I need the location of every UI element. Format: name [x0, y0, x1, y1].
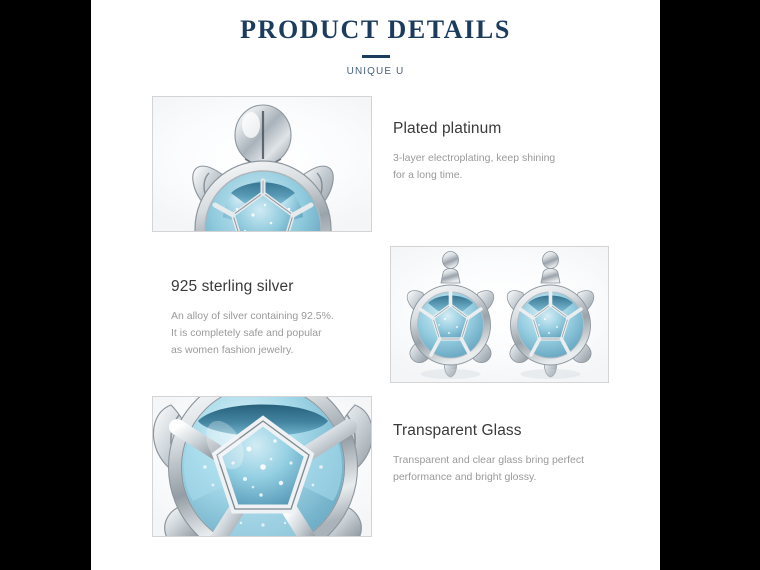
feature-description: Transparent and clear glass bring perfec…: [393, 452, 638, 486]
feature-description-line: It is completely safe and popular: [171, 325, 406, 342]
page-title: PRODUCT DETAILS: [91, 0, 660, 43]
letterbox-right: [660, 0, 760, 570]
turtle-head-closeup-illustration: [153, 97, 372, 232]
screenshot-canvas: PRODUCT DETAILS UNIQUE U: [0, 0, 760, 570]
turtle-shell-macro-illustration: [153, 397, 372, 537]
page-header: PRODUCT DETAILS UNIQUE U: [91, 0, 660, 77]
feature-text-plated-platinum: Plated platinum 3-layer electroplating, …: [393, 120, 633, 184]
turtle-earrings-pair-photo: [390, 246, 609, 383]
feature-description: An alloy of silver containing 92.5%. It …: [171, 308, 406, 359]
feature-title: 925 sterling silver: [171, 278, 406, 297]
turtle-shell-macro-photo: [152, 396, 372, 537]
feature-description-line: as women fashion jewelry.: [171, 342, 406, 359]
feature-description-line: An alloy of silver containing 92.5%.: [171, 308, 406, 325]
letterbox-left: [0, 0, 91, 570]
feature-text-sterling-silver: 925 sterling silver An alloy of silver c…: [171, 278, 406, 359]
product-details-page: PRODUCT DETAILS UNIQUE U: [91, 0, 660, 570]
turtle-earrings-pair-illustration: [391, 247, 609, 383]
turtle-head-closeup-photo: [152, 96, 372, 232]
feature-description: 3-layer electroplating, keep shining for…: [393, 150, 633, 184]
feature-description-line: performance and bright glossy.: [393, 469, 638, 486]
page-subtitle: UNIQUE U: [91, 66, 660, 77]
feature-description-line: Transparent and clear glass bring perfec…: [393, 452, 638, 469]
feature-title: Plated platinum: [393, 120, 633, 139]
feature-description-line: 3-layer electroplating, keep shining: [393, 150, 633, 167]
feature-description-line: for a long time.: [393, 167, 633, 184]
title-divider: [362, 55, 390, 58]
feature-text-transparent-glass: Transparent Glass Transparent and clear …: [393, 422, 638, 486]
feature-title: Transparent Glass: [393, 422, 638, 441]
